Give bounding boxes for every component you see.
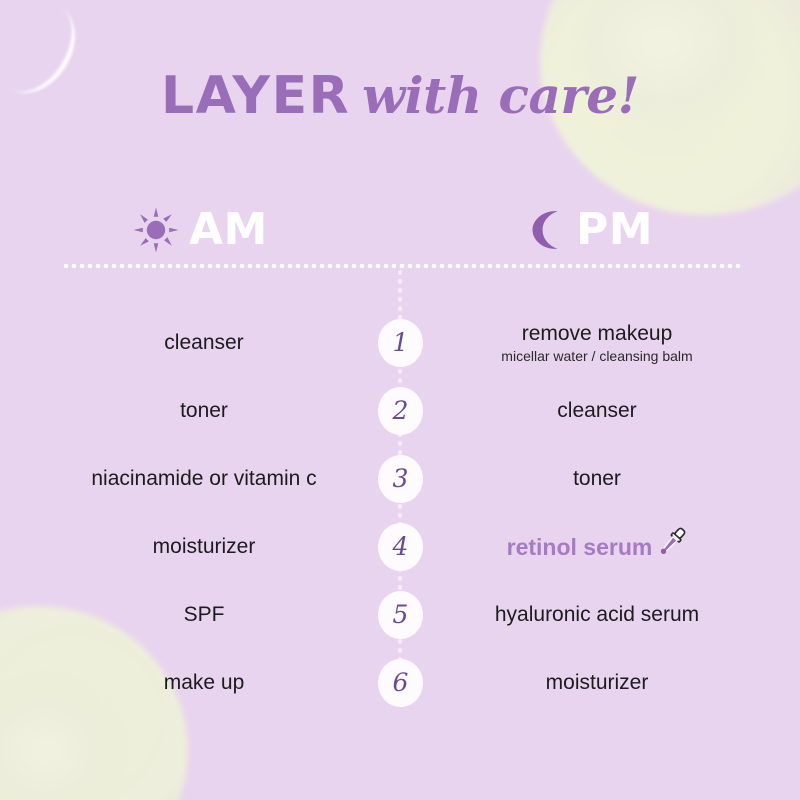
pm-step-cell: moisturizer: [422, 649, 772, 717]
am-step-label: make up: [164, 671, 245, 695]
pm-step-cell: retinol serum: [422, 513, 772, 581]
step-number: 5: [393, 602, 409, 627]
page-title: LAYERwith care!: [0, 66, 800, 126]
am-step-label: SPF: [184, 603, 225, 627]
am-step-label: cleanser: [164, 331, 243, 355]
am-step-cell: make up: [30, 649, 378, 717]
step-number: 1: [393, 330, 409, 355]
routine-row: cleanser1remove makeupmicellar water / c…: [0, 309, 800, 377]
am-step-cell: cleanser: [30, 309, 378, 377]
title-script-text: with care!: [362, 66, 639, 125]
am-step-cell: toner: [30, 377, 378, 445]
step-number-bubble: 3: [378, 455, 423, 503]
am-step-cell: niacinamide or vitamin c: [30, 445, 378, 513]
step-number: 2: [393, 398, 409, 423]
routine-row: toner2cleanser: [0, 377, 800, 445]
routine-row: niacinamide or vitamin c3toner: [0, 445, 800, 513]
pm-step-sublabel: micellar water / cleansing balm: [501, 348, 692, 365]
routine-row: make up6moisturizer: [0, 649, 800, 717]
skincare-routine-infographic: LAYERwith care! AM: [0, 0, 800, 800]
pm-step-label: hyaluronic acid serum: [495, 603, 699, 627]
routine-steps-list: cleanser1remove makeupmicellar water / c…: [0, 309, 800, 717]
step-number: 3: [393, 466, 409, 491]
pm-step-label-text: retinol serum: [507, 534, 653, 560]
pm-step-cell: toner: [422, 445, 772, 513]
step-number: 6: [393, 670, 409, 695]
pm-step-cell: hyaluronic acid serum: [422, 581, 772, 649]
am-step-cell: SPF: [30, 581, 378, 649]
step-number: 4: [393, 534, 409, 559]
pm-step-cell: cleanser: [422, 377, 772, 445]
column-header-pm-label: PM: [576, 208, 653, 252]
column-header-am-label: AM: [189, 208, 268, 252]
step-number-bubble: 5: [378, 591, 423, 639]
sun-icon: [133, 207, 179, 253]
dropper-icon: [654, 530, 687, 564]
am-step-label: niacinamide or vitamin c: [91, 467, 316, 491]
pm-step-label: moisturizer: [546, 671, 649, 695]
am-step-label: moisturizer: [153, 535, 256, 559]
pm-step-label: remove makeup: [522, 322, 673, 346]
routine-row: moisturizer4retinol serum: [0, 513, 800, 581]
pm-step-label: cleanser: [557, 399, 636, 423]
pm-step-label: toner: [573, 467, 621, 491]
am-step-label: toner: [180, 399, 228, 423]
step-number-bubble: 4: [378, 523, 423, 571]
am-step-cell: moisturizer: [30, 513, 378, 581]
step-number-bubble: 6: [378, 659, 423, 707]
column-header-pm: PM: [524, 207, 653, 253]
column-header-am: AM: [133, 207, 268, 253]
pm-step-cell: remove makeupmicellar water / cleansing …: [422, 309, 772, 377]
routine-row: SPF5hyaluronic acid serum: [0, 581, 800, 649]
pm-step-label-highlighted: retinol serum: [507, 530, 688, 564]
step-number-bubble: 1: [378, 319, 423, 367]
step-number-bubble: 2: [378, 387, 423, 435]
title-main-text: LAYER: [161, 66, 350, 126]
moon-icon: [524, 207, 566, 253]
